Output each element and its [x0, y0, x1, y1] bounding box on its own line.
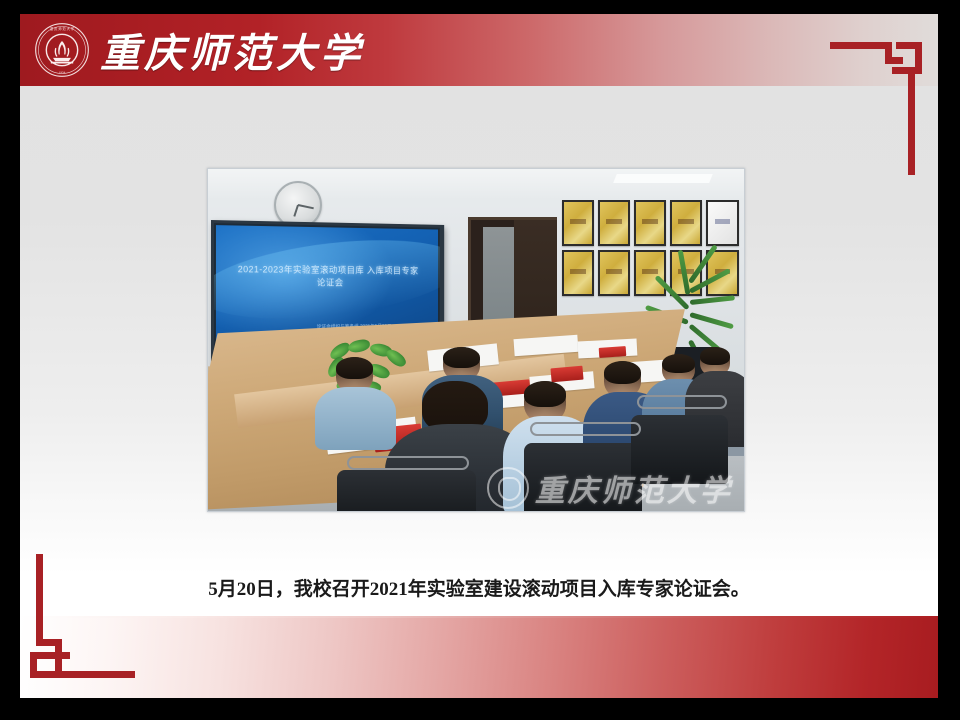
- person-seated: [315, 357, 395, 446]
- award-plaque: [634, 200, 666, 246]
- bottom-gradient-band: [20, 618, 938, 698]
- office-chair: [337, 470, 476, 511]
- university-name-title: 重庆师范大学: [100, 18, 364, 82]
- award-plaque: [670, 200, 702, 246]
- chair-armrest: [347, 456, 469, 470]
- chair-armrest: [530, 422, 641, 436]
- award-plaque: [598, 250, 630, 296]
- name-card-holder: [599, 346, 626, 358]
- photo-content: 2021-2023年实验室滚动项目库 入库项目专家论证会 论证会组织与筹备组 2…: [208, 169, 744, 511]
- office-chair: [524, 443, 642, 511]
- award-plaque: [562, 200, 594, 246]
- display-title-text: 2021-2023年实验室滚动项目库 入库项目专家论证会: [234, 264, 421, 291]
- header-banner: 重 庆 师 范 大 学 1954 重庆师范大学: [20, 14, 938, 86]
- slide-root: 重 庆 师 范 大 学 1954 重庆师范大学: [0, 0, 960, 720]
- award-plaque: [598, 200, 630, 246]
- svg-text:1954: 1954: [59, 71, 66, 75]
- bottom-left-corner-ornament-icon: [30, 554, 152, 686]
- photo-caption: 5月20日，我校召开2021年实验室建设滚动项目入库专家论证会。: [20, 574, 938, 601]
- chair-armrest: [637, 395, 727, 409]
- ceiling-light: [614, 174, 714, 183]
- award-plaque: [706, 200, 738, 246]
- award-plaque: [562, 250, 594, 296]
- office-chair: [631, 415, 727, 483]
- slide-canvas: 重 庆 师 范 大 学 1954 重庆师范大学: [20, 14, 938, 698]
- meeting-photo: 2021-2023年实验室滚动项目库 入库项目专家论证会 论证会组织与筹备组 2…: [207, 168, 745, 512]
- university-seal-icon: 重 庆 师 范 大 学 1954: [34, 22, 90, 78]
- top-right-corner-ornament-icon: [826, 38, 930, 178]
- svg-text:重 庆 师 范 大 学: 重 庆 师 范 大 学: [50, 26, 75, 31]
